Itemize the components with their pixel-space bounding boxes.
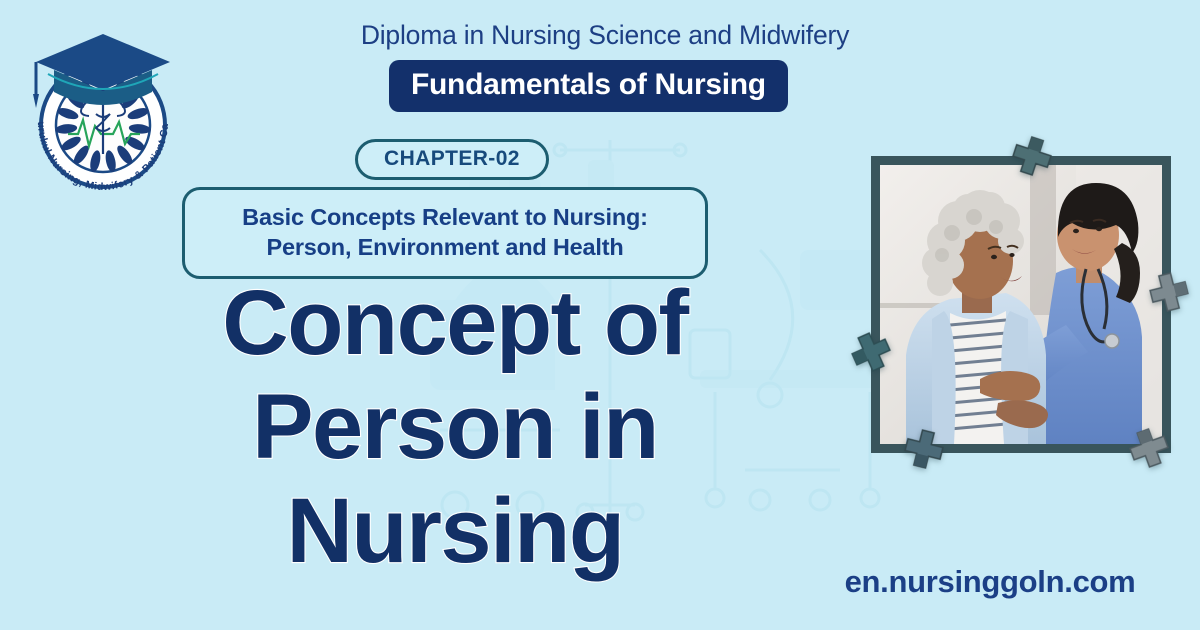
page-title-line-1: Concept of: [60, 272, 850, 376]
page-title-line-2: Person in: [60, 376, 850, 480]
medical-cross-icon: [900, 425, 948, 473]
course-name: Diploma in Nursing Science and Midwifery: [225, 20, 985, 50]
page-title-line-3: Nursing: [60, 480, 850, 584]
page-title: Concept of Person in Nursing: [60, 272, 850, 584]
institution-logo: Gurukul Nursing, Midwifery & Patient Car…: [18, 22, 188, 197]
chapter-badge: CHAPTER-02: [355, 139, 549, 180]
nurse-and-patient-photo: [880, 165, 1162, 444]
topic-line-2: Person, Environment and Health: [201, 232, 689, 262]
topic-box: Basic Concepts Relevant to Nursing: Pers…: [182, 187, 708, 279]
poster-canvas: Gurukul Nursing, Midwifery & Patient Car…: [0, 0, 1200, 630]
medical-cross-icon: [1145, 268, 1193, 316]
photo-frame: [871, 156, 1171, 453]
subject-badge: Fundamentals of Nursing: [389, 60, 788, 112]
hero-photo-container: [871, 156, 1171, 453]
website-url: en.nursinggoln.com: [790, 565, 1190, 599]
topic-line-1: Basic Concepts Relevant to Nursing:: [201, 202, 689, 232]
